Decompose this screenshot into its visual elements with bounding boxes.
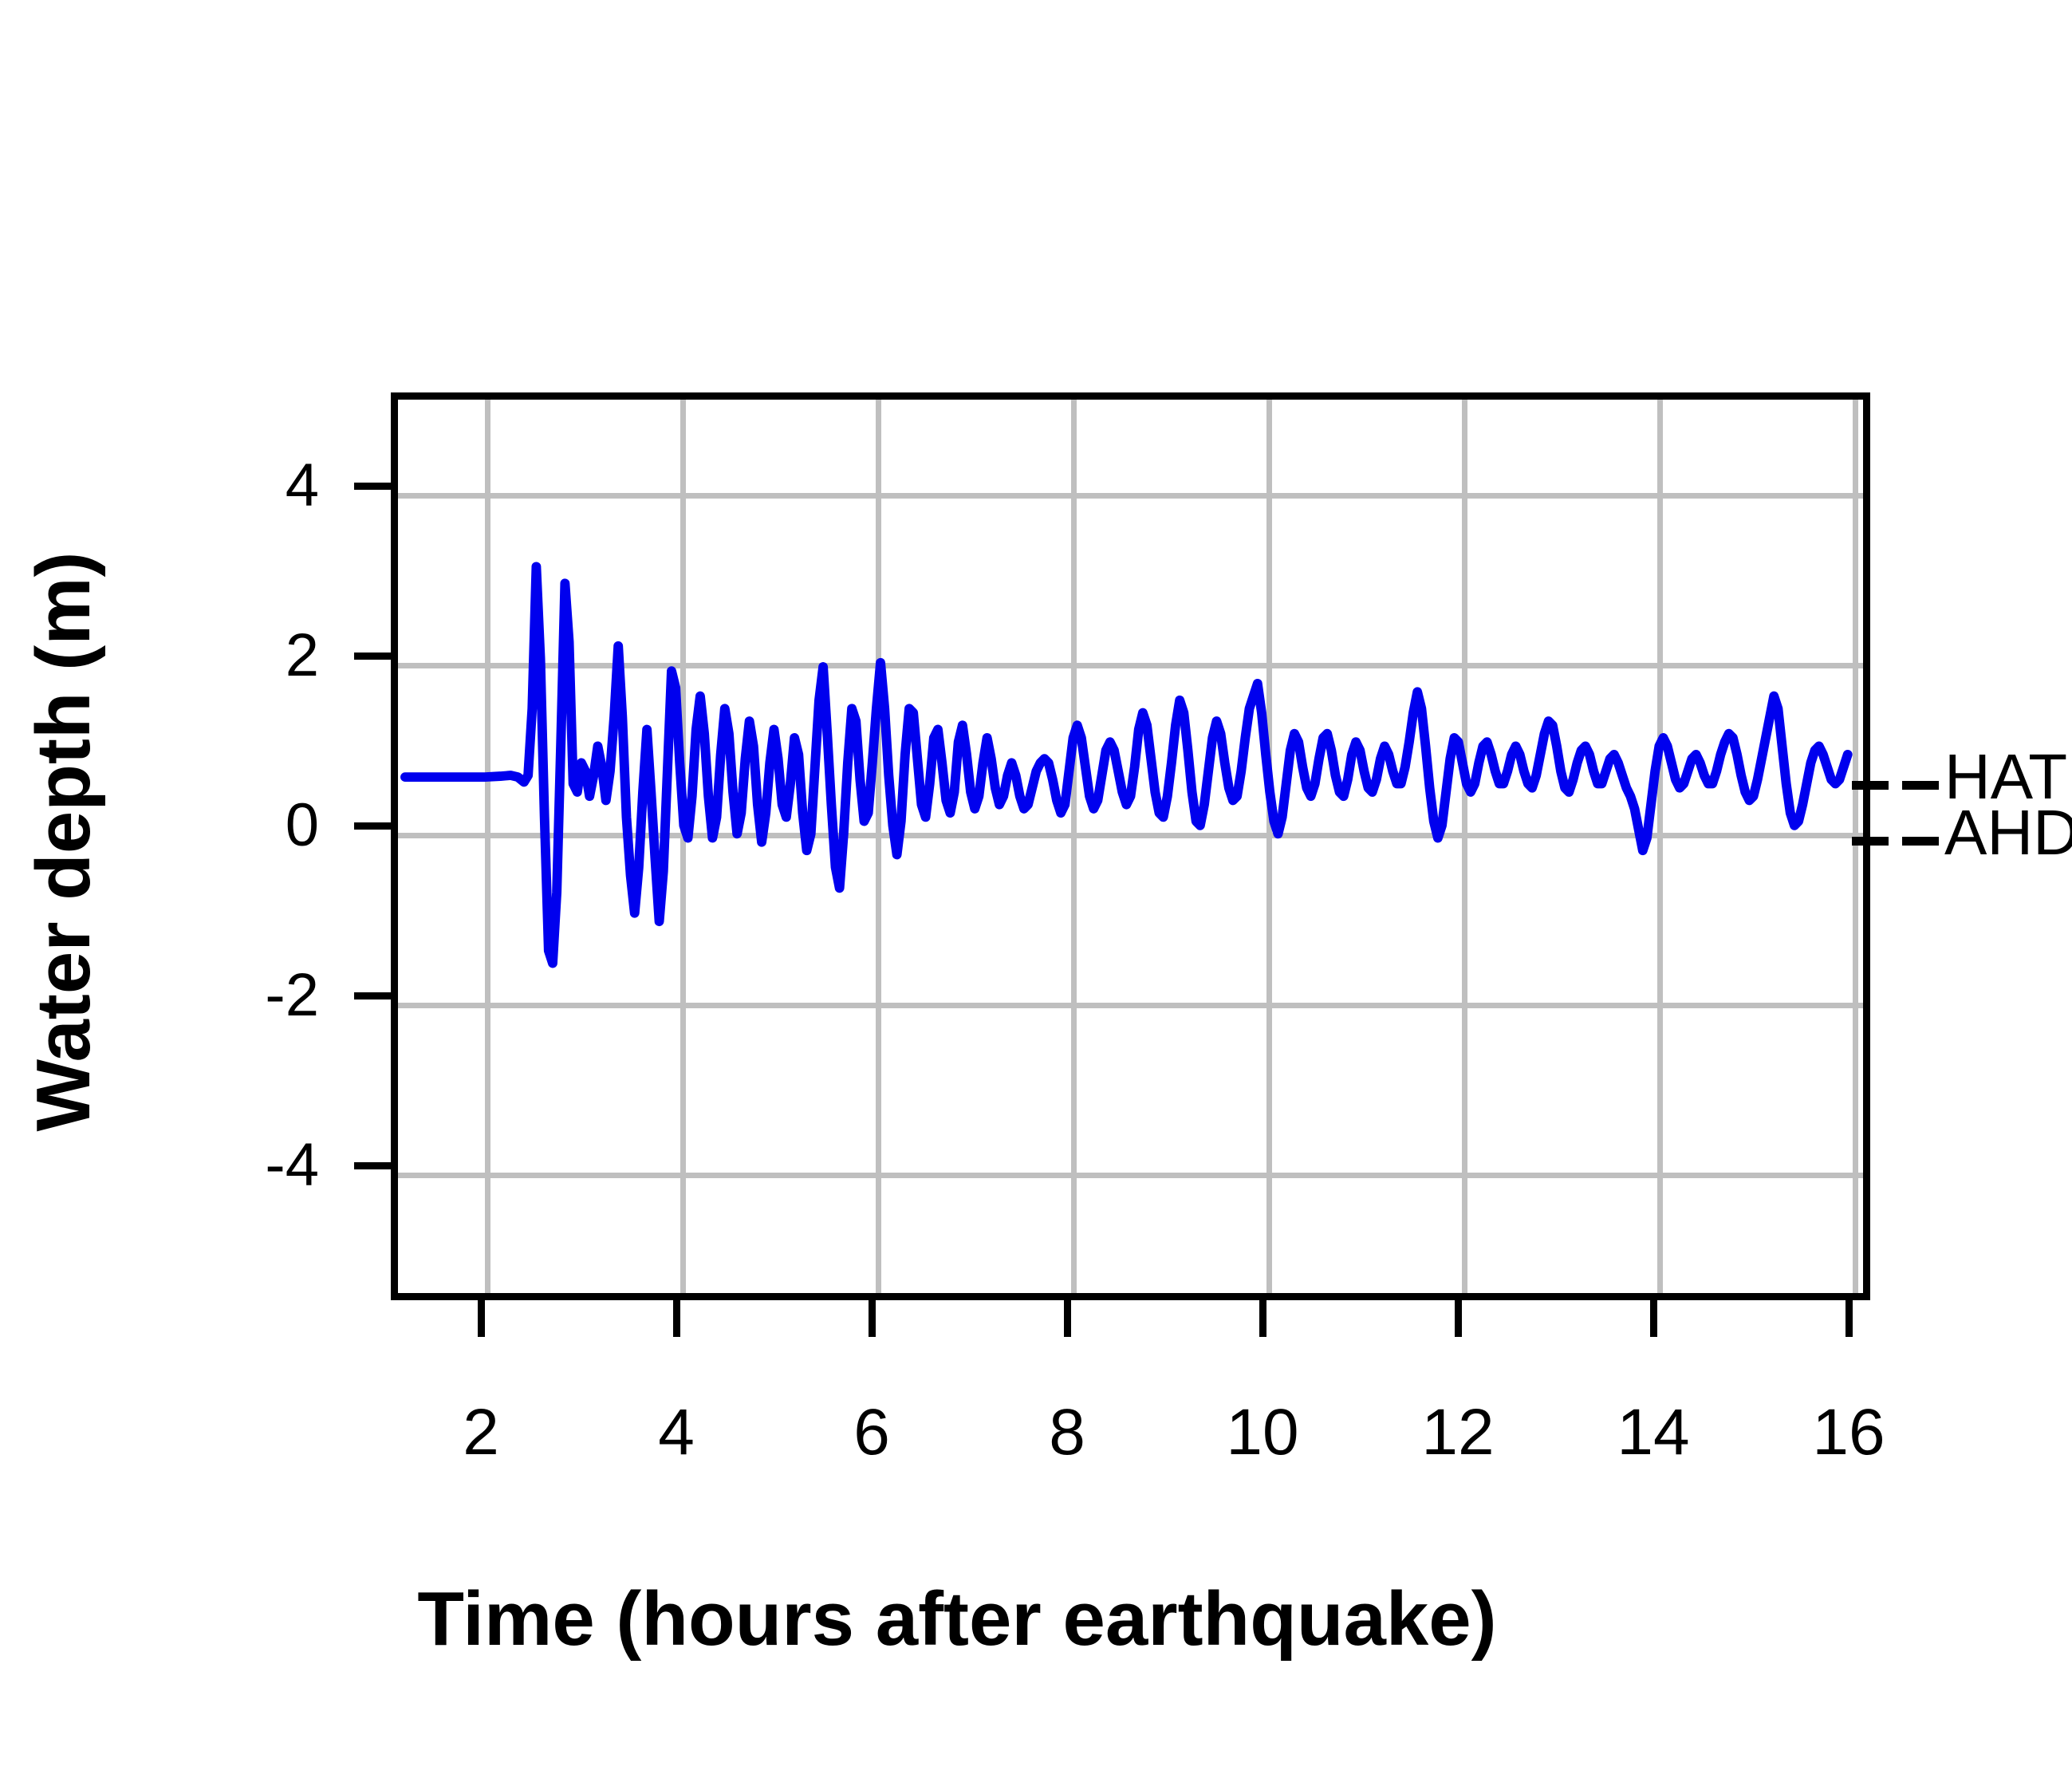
ytick-label-4: 4 bbox=[183, 455, 319, 516]
ytick-label-neg4: -4 bbox=[183, 1135, 319, 1196]
right-axis-spine bbox=[1863, 392, 1870, 1300]
ytick-mark-neg2 bbox=[354, 992, 391, 999]
ahd-dash bbox=[1902, 837, 1939, 846]
hat-dash bbox=[1902, 781, 1939, 790]
xtick-label-14: 14 bbox=[1582, 1400, 1725, 1465]
series-water-depth bbox=[398, 400, 1863, 1293]
xtick-mark-6 bbox=[869, 1300, 876, 1337]
xtick-mark-14 bbox=[1650, 1300, 1657, 1337]
x-axis-title: Time (hours after earthquake) bbox=[0, 1575, 1914, 1663]
ytick-label-2: 2 bbox=[183, 625, 319, 686]
xtick-label-10: 10 bbox=[1191, 1400, 1334, 1465]
xtick-mark-10 bbox=[1259, 1300, 1266, 1337]
xtick-label-6: 6 bbox=[800, 1400, 943, 1465]
xtick-label-8: 8 bbox=[995, 1400, 1139, 1465]
ytick-mark-0 bbox=[354, 822, 391, 830]
xtick-mark-4 bbox=[673, 1300, 680, 1337]
xtick-mark-16 bbox=[1845, 1300, 1853, 1337]
xtick-label-4: 4 bbox=[605, 1400, 748, 1465]
ytick-mark-2 bbox=[354, 653, 391, 660]
plot-area bbox=[391, 392, 1870, 1300]
ahd-tick-mark bbox=[1852, 837, 1889, 846]
y-axis-title: Water depth (m) bbox=[20, 483, 108, 1201]
ytick-label-neg2: -2 bbox=[183, 965, 319, 1026]
chart-root: 4 2 0 -2 -4 2 4 6 8 10 12 14 16 HAT AHD … bbox=[0, 0, 2072, 1790]
xtick-mark-8 bbox=[1064, 1300, 1071, 1337]
xtick-mark-12 bbox=[1455, 1300, 1462, 1337]
xtick-label-12: 12 bbox=[1386, 1400, 1530, 1465]
hat-tick-mark bbox=[1852, 781, 1889, 790]
ytick-mark-4 bbox=[354, 483, 391, 490]
xtick-label-2: 2 bbox=[409, 1400, 553, 1465]
xtick-mark-2 bbox=[478, 1300, 485, 1337]
ahd-label: AHD bbox=[1944, 801, 2072, 865]
ytick-mark-neg4 bbox=[354, 1162, 391, 1169]
ytick-label-0: 0 bbox=[183, 795, 319, 856]
xtick-label-16: 16 bbox=[1777, 1400, 1920, 1465]
